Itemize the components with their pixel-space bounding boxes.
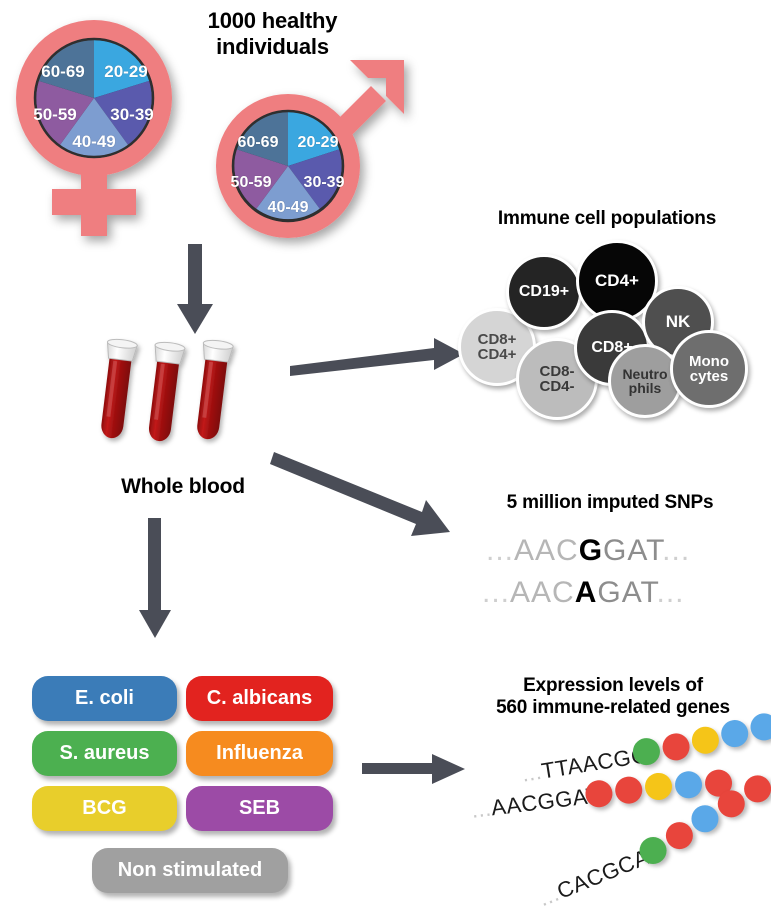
arrow-blood-to-immune-cells [288,328,468,378]
cell-line-1: Mono [689,354,729,369]
stimulation-label: E. coli [75,687,134,710]
figure-canvas: 1000 healthy individuals [0,0,771,922]
stimulation-s-aureus[interactable]: S. aureus [32,731,177,776]
arrow-blood-to-snps [272,450,462,545]
cell-line-1: CD4+ [595,272,639,289]
arrow-blood-to-stimulations [135,518,175,640]
immune-cells-cluster: CD8+ CD4+ CD8- CD4- CD19+ CD4+ CD8+ NK [458,238,758,413]
snp-sequence-row-2: ...AACAGAT... [482,576,685,610]
cell-line-2: cytes [689,369,729,384]
male-symbol: 20-29 30-39 40-49 50-59 60-69 [205,38,420,253]
immune-cells-heading: Immune cell populations [452,208,762,230]
cell-line-2: CD4- [539,379,574,394]
whole-blood-label: Whole blood [88,475,278,500]
stimulation-bcg[interactable]: BCG [32,786,177,831]
stimulation-c-albicans[interactable]: C. albicans [186,676,333,721]
expression-heading: Expression levels of 560 immune-related … [458,675,768,720]
expression-strands: ...TTAACGG ...AACGGAT ...CACGCAA [440,740,771,922]
stimulation-non-stimulated[interactable]: Non stimulated [92,848,288,893]
expression-heading-line2: 560 immune-related genes [458,697,768,719]
female-symbol: 20-29 30-39 40-49 50-59 60-69 [6,14,206,244]
cell-line-1: CD8+ [478,332,517,347]
immune-cell-monocytes[interactable]: Mono cytes [670,330,748,408]
strand-sequence-2: ...AACGGAT [470,782,602,824]
snp-suffix: ... [657,576,685,609]
cohort-heading-line1: 1000 healthy [180,8,365,34]
cell-line-1: Neutro [622,367,667,381]
strand-bead [614,775,644,805]
cell-line-2: CD4+ [478,347,517,362]
blood-tube-2 [144,341,186,443]
immune-cell-cd19[interactable]: CD19+ [506,254,582,330]
cell-line-1: CD19+ [519,284,569,300]
cell-line-1: NK [666,313,691,330]
stimulation-e-coli[interactable]: E. coli [32,676,177,721]
snp-variant: A [575,576,598,609]
strand-bead [643,771,673,801]
stimulation-label: Influenza [216,742,303,765]
snp-left: AAC [514,534,579,567]
stimulation-label: BCG [82,797,126,820]
strand-bead [661,731,692,762]
female-age-pie [34,38,154,158]
expression-heading-line1: Expression levels of [458,675,768,697]
strand-bead [690,725,721,756]
blood-tube-1 [96,338,138,440]
stimulation-influenza[interactable]: Influenza [186,731,333,776]
snp-right: GAT [603,534,662,567]
immune-cell-neutrophils[interactable]: Neutro phils [608,344,682,418]
strand-bead [719,718,750,749]
snp-left: AAC [510,576,575,609]
stimulation-label: C. albicans [207,687,313,710]
stimulation-seb[interactable]: SEB [186,786,333,831]
blood-tubes [95,336,270,458]
snp-prefix: ... [482,576,510,609]
strand-bases: AACGGAT [490,782,602,820]
snp-sequence-row-1: ...AACGGAT... [486,534,690,568]
cell-line-1: CD8- [539,364,574,379]
snp-variant: G [579,534,603,567]
strand-bead [673,770,703,800]
stimulation-label: S. aureus [59,742,149,765]
snp-suffix: ... [662,534,690,567]
stimulation-label: SEB [239,797,280,820]
snp-right: GAT [597,576,656,609]
male-age-pie [232,110,344,222]
snp-prefix: ... [486,534,514,567]
stimulation-label: Non stimulated [118,859,262,882]
cell-line-2: phils [622,381,667,395]
arrow-cohort-to-blood [174,244,216,336]
snps-heading: 5 million imputed SNPs [460,492,760,514]
blood-tube-3 [192,339,234,441]
